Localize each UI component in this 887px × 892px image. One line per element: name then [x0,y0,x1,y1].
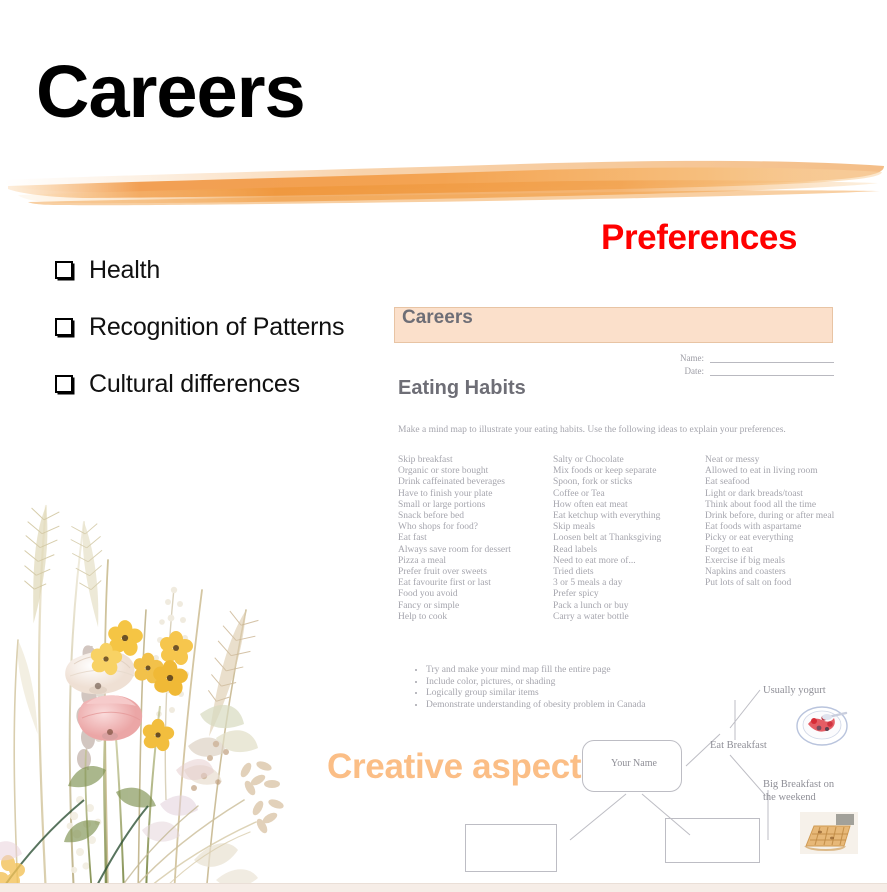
wildflower-bouquet-illustration [0,470,288,892]
bottom-band [0,884,887,892]
mind-map-leaf-two: Big Breakfast on the weekend [763,779,843,804]
checklist-item-label: Health [89,255,160,285]
checklist: Health Recognition of Patterns Cultural … [55,255,375,426]
mind-map-empty-box-right[interactable] [665,818,760,863]
checkbox-icon[interactable] [55,375,73,393]
waffle-icon [800,812,858,854]
mind-map-diagram: Your Name Eat Breakfast Usually yogurt B… [390,300,887,892]
preferences-annotation: Preferences [601,218,797,258]
mind-map-branch-label: Eat Breakfast [710,740,767,753]
page-title: Careers [36,52,305,132]
list-item[interactable]: Recognition of Patterns [55,312,375,342]
mind-map-center-label: Your Name [611,758,657,771]
checkbox-icon[interactable] [55,261,73,279]
list-item[interactable]: Health [55,255,375,285]
checklist-item-label: Recognition of Patterns [89,312,344,342]
mind-map-empty-box-left[interactable] [465,824,557,872]
brush-stroke-decoration [0,150,887,214]
list-item[interactable]: Cultural differences [55,369,375,399]
creative-aspect-annotation: Creative aspect [327,747,581,787]
checklist-item-label: Cultural differences [89,369,300,399]
slide-canvas: Careers [0,0,887,892]
yogurt-bowl-icon [794,704,850,748]
mind-map-leaf-one: Usually yogurt [763,685,826,698]
checkbox-icon[interactable] [55,318,73,336]
